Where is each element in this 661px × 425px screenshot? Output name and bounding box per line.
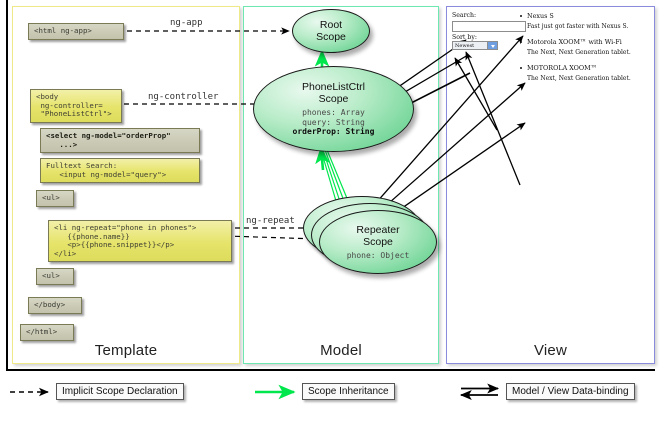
scope-root-title-2: Scope	[316, 31, 346, 43]
scope-phonelistctrl-title-2: Scope	[319, 93, 349, 105]
phone-list: Nexus S Fast just got faster with Nexus …	[520, 12, 648, 90]
legend: Implicit Scope Declaration Scope Inherit…	[6, 383, 655, 413]
prop-phone: phone: Object	[347, 251, 410, 260]
chevron-down-icon	[487, 42, 497, 49]
sort-by-select[interactable]: Newest	[452, 41, 498, 50]
scope-repeater: Repeater Scope phone: Object	[319, 210, 437, 274]
label-ng-controller: ng-controller	[148, 92, 218, 102]
legend-label-scope-inheritance: Scope Inheritance	[302, 383, 395, 400]
scope-repeater-title-2: Scope	[363, 236, 393, 248]
scope-phonelistctrl: PhoneListCtrl Scope phones: Array query:…	[253, 66, 414, 152]
list-item[interactable]: Nexus S Fast just got faster with Nexus …	[520, 12, 648, 31]
scope-repeater-title-1: Repeater	[356, 224, 399, 236]
legend-label-model-view-data-binding: Model / View Data-binding	[506, 383, 635, 400]
prop-orderprop: orderProp: String	[293, 127, 375, 136]
phone-snippet: The Next, Next Generation tablet.	[520, 49, 648, 57]
label-ng-repeat: ng-repeat	[246, 216, 295, 226]
search-input[interactable]	[452, 21, 526, 32]
code-box-body-close-tag: </body>	[28, 297, 82, 314]
code-box-li-repeat-tag: <li ng-repeat="phone in phones"> {{phone…	[48, 220, 232, 262]
scope-root-title-1: Root	[320, 19, 342, 31]
diagram-canvas: Template Model View	[0, 0, 661, 425]
legend-label-implicit-scope-declaration: Implicit Scope Declaration	[56, 383, 184, 400]
code-box-ul-open-tag: <ul>	[36, 190, 74, 207]
sort-by-selected-value: Newest	[455, 43, 474, 49]
code-box-input-tag: Fulltext Search: <input ng-model="query"…	[40, 158, 200, 183]
phone-name: Motorola XOOM™ with Wi-Fi	[520, 38, 648, 46]
list-item[interactable]: Motorola XOOM™ with Wi-Fi The Next, Next…	[520, 38, 648, 57]
label-ng-app: ng-app	[170, 18, 203, 28]
phone-snippet: The Next, Next Generation tablet.	[520, 75, 648, 83]
code-box-select-tag: <select ng-model="orderProp" ...>	[40, 128, 200, 153]
phone-name: MOTOROLA XOOM™	[520, 64, 648, 72]
phone-name: Nexus S	[520, 12, 648, 20]
scope-repeater-props: phone: Object	[347, 251, 410, 260]
scope-phonelistctrl-title-1: PhoneListCtrl	[302, 81, 365, 93]
code-box-html-close-tag: </html>	[20, 324, 74, 341]
list-item[interactable]: MOTOROLA XOOM™ The Next, Next Generation…	[520, 64, 648, 83]
code-box-body-tag: <body ng-controller= "PhoneListCtrl">	[30, 89, 122, 123]
scope-root: Root Scope	[292, 9, 370, 53]
code-box-html-tag: <html ng-app>	[28, 23, 124, 40]
scope-phonelistctrl-props: phones: Array query: String orderProp: S…	[293, 108, 375, 136]
view-browser-content: Search: Sort by: Newest Nexus S Fast jus…	[452, 12, 648, 122]
code-box-ul-close-tag: <ul>	[36, 268, 74, 285]
prop-phones: phones: Array	[293, 108, 375, 117]
phone-snippet: Fast just got faster with Nexus S.	[520, 23, 648, 31]
prop-query: query: String	[293, 118, 375, 127]
